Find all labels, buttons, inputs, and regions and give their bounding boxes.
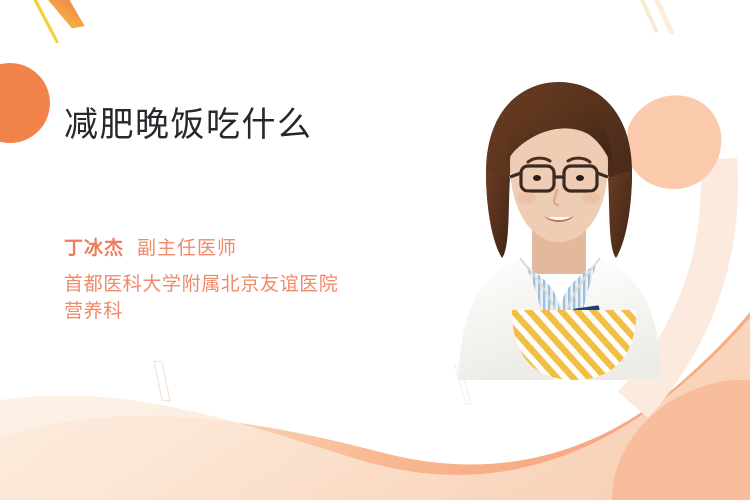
mid-left-outline-stroke <box>150 361 174 401</box>
cheek-right <box>582 192 600 204</box>
doctor-affiliation: 首都医科大学附属北京友谊医院 营养科 <box>64 272 394 326</box>
eye-left <box>533 175 541 181</box>
page-title: 减肥晚饭吃什么 <box>64 104 464 148</box>
cheek-left <box>518 192 536 204</box>
eye-right <box>576 175 584 181</box>
hair-side-left <box>486 171 510 258</box>
doctor-portrait <box>428 78 690 380</box>
top-right-stripe-outer <box>638 0 658 34</box>
affiliation-line-1: 首都医科大学附属北京友谊医院 <box>64 272 394 299</box>
doctor-job-title: 副主任医师 <box>137 238 237 259</box>
doctor-name: 丁冰杰 <box>64 238 124 259</box>
left-orange-circle <box>0 63 50 143</box>
portrait-head <box>486 82 632 258</box>
top-left-stripe-group <box>28 0 86 45</box>
hair-side-right <box>608 171 632 258</box>
byline: 丁冰杰副主任医师 <box>64 237 464 262</box>
affiliation-line-2: 营养科 <box>64 299 394 326</box>
top-right-stripe-group <box>638 0 674 36</box>
text-block: 减肥晚饭吃什么 丁冰杰副主任医师 首都医科大学附属北京友谊医院 营养科 <box>64 104 464 326</box>
article-cover-card: 减肥晚饭吃什么 丁冰杰副主任医师 首都医科大学附属北京友谊医院 营养科 <box>0 0 750 500</box>
